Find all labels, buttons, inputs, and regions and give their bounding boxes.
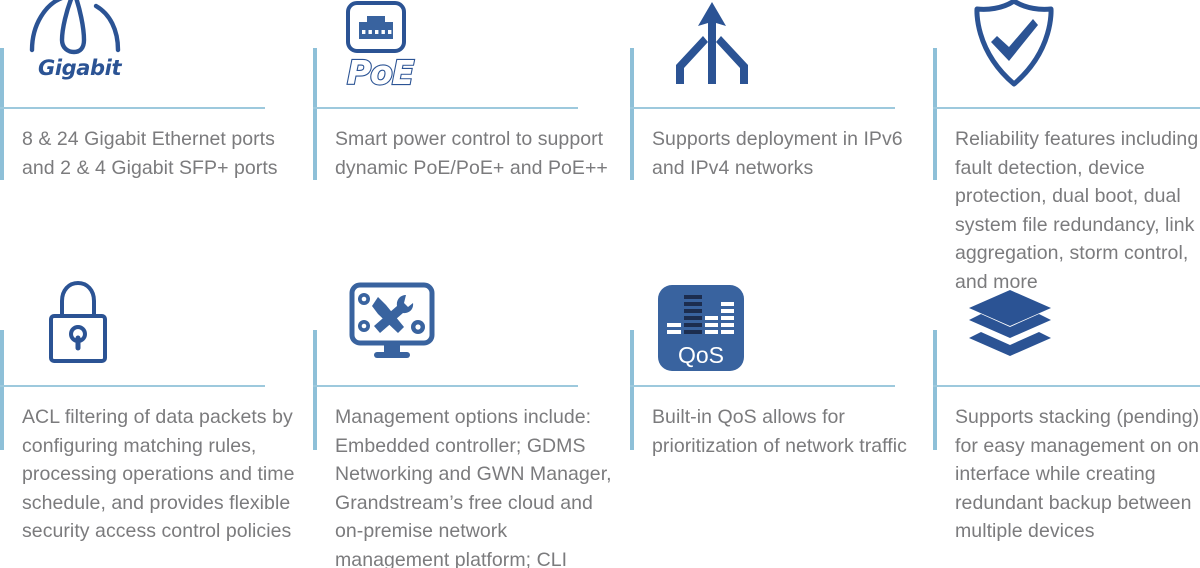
icon-area: QoS xyxy=(630,270,930,378)
feature-text: 8 & 24 Gigabit Ethernet ports and 2 & 4 … xyxy=(22,125,300,182)
gigabit-wordmark-label: Gigabit xyxy=(38,58,130,79)
divider-vertical xyxy=(933,48,937,180)
divider-vertical xyxy=(630,48,634,180)
feature-grid: Gigabit 8 & 24 Gigabit Ethernet ports an… xyxy=(0,0,1200,568)
shield-check-icon xyxy=(971,0,1057,88)
divider-vertical xyxy=(630,330,634,450)
divider-horizontal xyxy=(313,385,578,387)
gigabit-logo-icon: Gigabit xyxy=(22,0,130,79)
divider-horizontal xyxy=(0,385,265,387)
divider-horizontal xyxy=(313,107,578,109)
icon-area xyxy=(933,0,1200,108)
icon-area xyxy=(630,0,930,108)
icon-area xyxy=(313,270,613,378)
divider-vertical xyxy=(313,48,317,180)
icon-area xyxy=(0,270,300,378)
qos-tile: QoS xyxy=(658,285,744,371)
divider-vertical xyxy=(313,330,317,450)
qos-label: QoS xyxy=(658,344,744,367)
poe-port-icon: PoE xyxy=(345,0,413,89)
icon-area xyxy=(933,270,1200,378)
feature-text: Management options include: Embedded con… xyxy=(335,403,613,568)
divider-vertical xyxy=(933,330,937,450)
feature-text: ACL filtering of data packets by configu… xyxy=(22,403,300,546)
poe-wordmark-label: PoE xyxy=(347,56,413,89)
divider-vertical xyxy=(0,330,4,450)
feature-text: Supports deployment in IPv6 and IPv4 net… xyxy=(652,125,930,182)
divider-horizontal xyxy=(0,107,265,109)
converging-arrows-icon xyxy=(672,2,752,84)
qos-equalizer-icon: QoS xyxy=(658,285,744,371)
divider-horizontal xyxy=(630,385,895,387)
feature-text: Smart power control to support dynamic P… xyxy=(335,125,613,182)
divider-horizontal xyxy=(933,107,1200,109)
padlock-icon xyxy=(45,280,111,364)
feature-text: Built-in QoS allows for prioritization o… xyxy=(652,403,930,460)
divider-horizontal xyxy=(630,107,895,109)
monitor-tools-icon xyxy=(348,282,436,362)
divider-horizontal xyxy=(933,385,1200,387)
icon-area: PoE xyxy=(313,0,613,108)
divider-vertical xyxy=(0,48,4,180)
feature-text: Supports stacking (pending) for easy man… xyxy=(955,403,1200,546)
icon-area: Gigabit xyxy=(0,0,300,108)
stacked-layers-icon xyxy=(967,288,1053,362)
